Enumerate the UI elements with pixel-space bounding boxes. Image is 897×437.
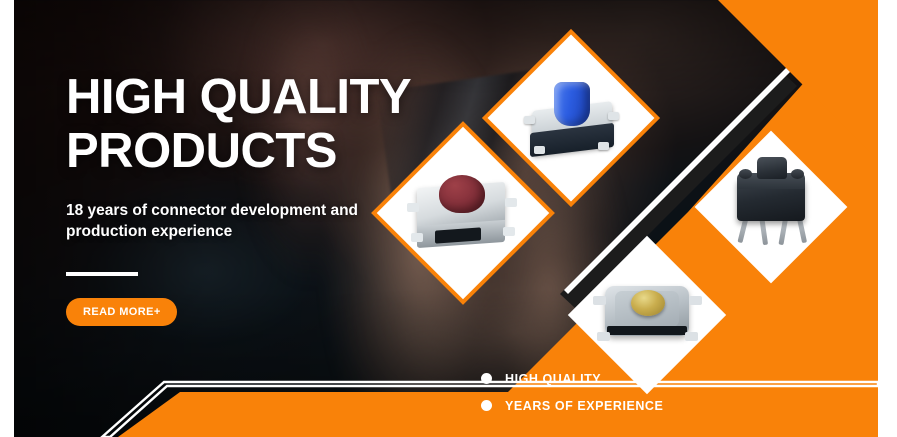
page-title: HIGH QUALITY PRODUCTS: [66, 70, 466, 178]
divider-rule: [66, 272, 138, 276]
read-more-button[interactable]: READ MORE+: [66, 298, 177, 326]
list-item: HIGH QUALITY: [481, 365, 663, 392]
dot-icon: [481, 373, 492, 384]
feature-label: YEARS OF EXPERIENCE: [505, 399, 663, 413]
feature-list: HIGH QUALITY YEARS OF EXPERIENCE: [481, 365, 663, 419]
promotional-banner: HIGH QUALITY PRODUCTS 18 years of connec…: [0, 0, 897, 437]
product-tile-inner: [591, 259, 703, 371]
product-tile-inner: [512, 59, 630, 177]
headline-line-2: PRODUCTS: [66, 124, 466, 178]
dot-icon: [481, 400, 492, 411]
subheadline: 18 years of connector development and pr…: [66, 200, 396, 242]
feature-label: HIGH QUALITY: [505, 372, 601, 386]
gold-dome-switch-illustration: [591, 276, 703, 354]
blue-tactile-switch-illustration: [518, 72, 624, 164]
copy-block: HIGH QUALITY PRODUCTS 18 years of connec…: [66, 70, 466, 326]
headline-line-1: HIGH QUALITY: [66, 70, 411, 124]
left-white-margin: [0, 0, 14, 437]
product-tile-inner: [717, 153, 825, 261]
right-white-margin: [878, 0, 897, 437]
black-through-hole-switch-illustration: [719, 155, 823, 259]
list-item: YEARS OF EXPERIENCE: [481, 392, 663, 419]
